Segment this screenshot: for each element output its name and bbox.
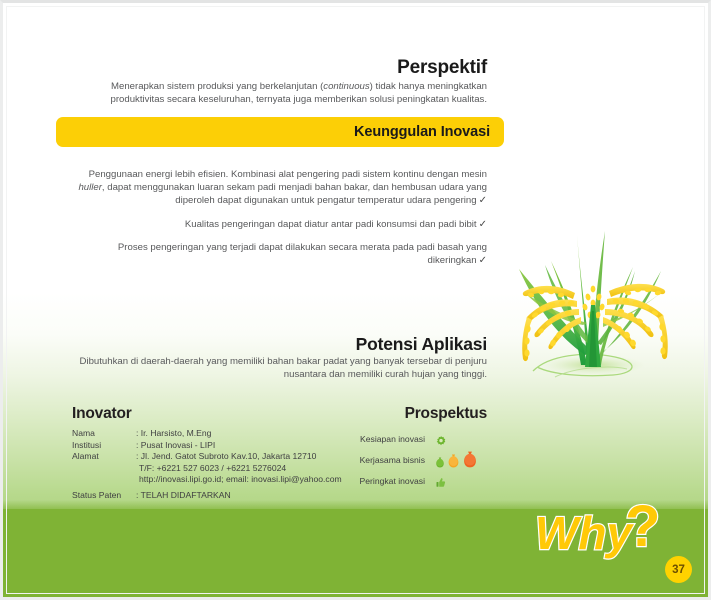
perspektif-body-italic: continuous [323,81,369,92]
inovator-label-institusi: Institusi [72,440,136,452]
keunggulan-banner-label: Keunggulan Inovasi [354,124,490,140]
prospektus-rating-peringkat-inovasi [435,473,487,489]
inovator-row-nama: Nama : Ir. Harsisto, M.Eng [72,428,362,440]
inovator-value-alamat: : Jl. Jend. Gatot Subroto Kav.10, Jakart… [136,451,362,486]
page-number-badge: 37 [665,556,692,583]
inovator-label-alamat: Alamat [72,451,136,463]
inovator-value-status-paten: : TELAH DIDAFTARKAN [136,490,362,502]
money-bag-icon [447,454,460,468]
perspektif-body: Menerapkan sistem produksi yang berkelan… [60,81,487,106]
advantage-item: Kualitas pengeringan dapat diatur antar … [60,218,487,231]
potensi-aplikasi-heading: Potensi Aplikasi [60,334,487,354]
inovator-row-status-paten: Status Paten : TELAH DIDAFTARKAN [72,490,362,502]
advantage-item: Penggunaan energi lebih efisien. Kombina… [60,168,487,208]
inovator-details: Nama : Ir. Harsisto, M.Eng Institusi : P… [72,428,362,502]
advantage-text-italic: huller [78,182,101,193]
inovator-label-nama: Nama [72,428,136,440]
potensi-aplikasi-body: Dibutuhkan di daerah-daerah yang memilik… [60,356,487,381]
perspektif-body-part1: Menerapkan sistem produksi yang berkelan… [111,81,323,92]
thumbs-up-icon [435,477,447,489]
page-content: Perspektif Menerapkan sistem produksi ya… [0,0,711,600]
why-brand-logo: Why ? [533,500,673,562]
inovator-value-institusi: : Pusat Inovasi - LIPI [136,440,362,452]
advantage-text-part2: , dapat menggunakan luaran sekam padi me… [102,182,487,206]
prospektus-label-peringkat-inovasi: Peringkat inovasi [330,476,435,486]
inovator-alamat-phone: T/F: +6221 527 6023 / +6221 5276024 [136,463,362,475]
check-icon: ✓ [477,219,487,230]
inovator-value-nama: : Ir. Harsisto, M.Eng [136,428,362,440]
prospektus-row-kesiapan-inovasi: Kesiapan inovasi [330,428,487,449]
prospektus-row-kerjasama-bisnis: Kerjasama bisnis [330,449,487,470]
check-icon: ✓ [477,195,487,206]
why-brand-word: Why [535,507,635,559]
inovator-alamat-web-email: http://inovasi.lipi.go.id; email: inovas… [136,474,362,486]
perspektif-heading: Perspektif [60,57,487,79]
prospektus-rating-kerjasama-bisnis [435,452,487,468]
inovator-alamat-line1: : Jl. Jend. Gatot Subroto Kav.10, Jakart… [136,451,362,463]
keunggulan-banner: Keunggulan Inovasi [56,117,504,147]
prospektus-list: Kesiapan inovasi Kerjasama bisnis [330,428,487,491]
prospektus-heading: Prospektus [330,405,487,423]
inovator-row-institusi: Institusi : Pusat Inovasi - LIPI [72,440,362,452]
inovator-row-alamat: Alamat : Jl. Jend. Gatot Subroto Kav.10,… [72,451,362,486]
why-brand-question-mark: ? [625,500,660,559]
prospektus-label-kesiapan-inovasi: Kesiapan inovasi [330,434,435,444]
prospektus-row-peringkat-inovasi: Peringkat inovasi [330,470,487,491]
advantage-text: Proses pengeringan yang terjadi dapat di… [118,242,487,266]
advantage-text: Kualitas pengeringan dapat diatur antar … [185,219,477,230]
money-bag-icon [462,451,478,468]
advantage-item: Proses pengeringan yang terjadi dapat di… [60,241,487,267]
money-bag-icon [435,457,445,468]
advantage-text-part1: Penggunaan energi lebih efisien. Kombina… [89,169,487,180]
prospektus-rating-kesiapan-inovasi [435,431,487,447]
check-icon: ✓ [477,255,487,266]
inovator-label-status-paten: Status Paten [72,490,136,502]
page-root: Perspektif Menerapkan sistem produksi ya… [0,0,711,600]
prospektus-label-kerjasama-bisnis: Kerjasama bisnis [330,455,435,465]
rice-plant-illustration [515,205,710,390]
inovator-heading: Inovator [72,405,132,423]
gear-icon [435,435,447,447]
